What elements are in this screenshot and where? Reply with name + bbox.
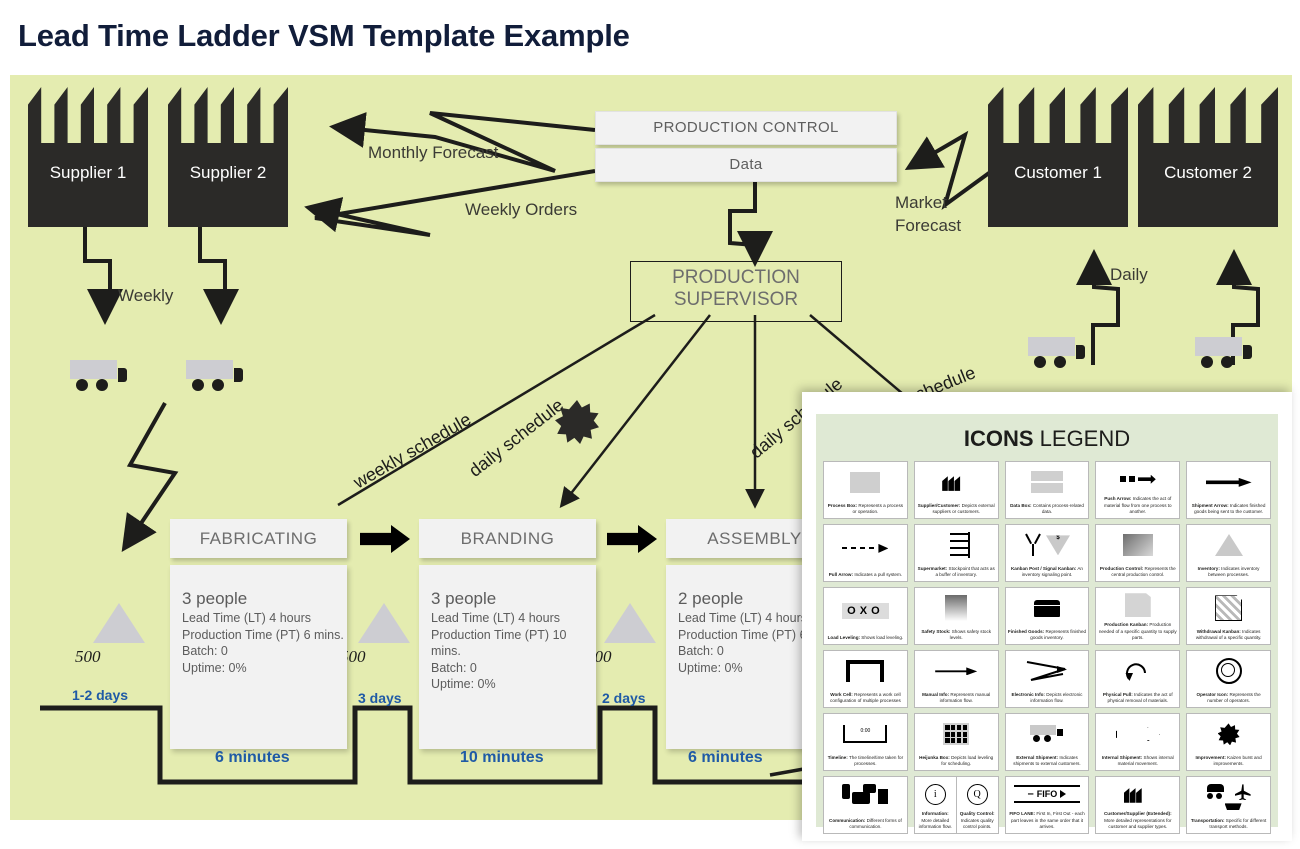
legend-item-customer-supplier-extended[interactable]: Customer/Supplier (Extended): More detai… <box>1095 776 1180 834</box>
heijunka-box-icon <box>915 714 998 755</box>
market-forecast-label-1: Market <box>895 193 947 213</box>
manual-info-icon <box>915 651 998 692</box>
legend-item-push-arrow[interactable]: Push Arrow: Indicates the act of materia… <box>1095 461 1180 519</box>
legend-item-pull-arrow[interactable]: Pull Arrow: Indicates a pull system. <box>823 524 908 582</box>
legend-item-manual-info[interactable]: Manual Info: Represents manual informati… <box>914 650 999 708</box>
transportation-icon <box>1187 777 1270 818</box>
process-name-2: BRANDING <box>461 529 555 548</box>
data-box-icon <box>1006 462 1089 503</box>
process-people-1: 3 people <box>182 589 347 609</box>
legend-name: Supermarket: <box>918 566 948 571</box>
finished-goods-icon <box>1006 588 1089 629</box>
process-time-label-1: 6 minutes <box>215 749 290 767</box>
process-lead-time-2: Lead Time (LT) 4 hours <box>431 610 596 627</box>
legend-item-finished-goods[interactable]: Finished Goods: Represents finished good… <box>1005 587 1090 645</box>
delay-label-1: 1-2 days <box>72 687 128 703</box>
inventory-triangle-1 <box>93 603 145 643</box>
legend-desc: The timeline/time taken for processes. <box>848 755 903 766</box>
monthly-forecast-label: Monthly Forecast <box>368 143 498 163</box>
legend-name: Customer/Supplier (Extended): <box>1104 811 1172 816</box>
legend-item-physical-pull[interactable]: Physical Pull: Indicates the act of phys… <box>1095 650 1180 708</box>
legend-name: Heijunka Box: <box>919 755 950 760</box>
legend-item-improvement[interactable]: Improvement: Kaizen burst and improvemen… <box>1186 713 1271 771</box>
truck-icon-customer-2 <box>1195 337 1255 371</box>
legend-title-bold: ICONS <box>964 426 1034 451</box>
page-title: Lead Time Ladder VSM Template Example <box>18 18 630 54</box>
legend-name: Safety Stock: <box>921 629 950 634</box>
weekly-label: Weekly <box>118 286 173 306</box>
supplier-1-label: Supplier 1 <box>28 163 148 183</box>
legend-item-supplier-customer[interactable]: Supplier/Customer: Depicts external supp… <box>914 461 999 519</box>
factory-roof-icon <box>988 87 1128 146</box>
legend-item-timeline[interactable]: 0:00 Timeline: The timeline/time taken f… <box>823 713 908 771</box>
process-header-fabricating[interactable]: FABRICATING <box>170 519 347 558</box>
icons-legend-inner: ICONS LEGEND Process Box: Represents a p… <box>816 414 1278 827</box>
supplier-1-node[interactable]: Supplier 1 <box>28 87 148 227</box>
process-body-fabricating: 3 people Lead Time (LT) 4 hours Producti… <box>170 565 347 749</box>
process-people-2: 3 people <box>431 589 596 609</box>
customer-supplier-extended-icon <box>1096 777 1179 811</box>
process-name-1: FABRICATING <box>200 529 318 548</box>
internal-shipment-icon <box>1096 714 1179 755</box>
legend-item-production-control[interactable]: Production Control: Represents the centr… <box>1095 524 1180 582</box>
factory-body <box>1138 143 1278 227</box>
legend-name: Pull Arrow: <box>829 572 853 577</box>
factory-body <box>28 143 148 227</box>
supervisor-line-1: PRODUCTION <box>631 267 841 289</box>
factory-roof-icon <box>28 87 148 146</box>
process-name-3: ASSEMBLY <box>707 529 801 548</box>
legend-item-operator-icon[interactable]: Operator Icon: Represents the number of … <box>1186 650 1271 708</box>
electronic-info-icon <box>1006 651 1089 692</box>
legend-item-shipment-arrow[interactable]: Shipment Arrow: Indicates finished goods… <box>1186 461 1271 519</box>
legend-desc: Shows safety stock levels. <box>950 629 991 640</box>
legend-name: Work Cell: <box>830 692 853 697</box>
legend-item-information-quality[interactable]: i Information: More detailed information… <box>914 776 999 834</box>
delay-label-3: 2 days <box>602 690 646 706</box>
truck-icon-supplier-2 <box>186 360 246 394</box>
legend-name: Quality Control: <box>960 811 995 816</box>
truck-icon-supplier-1 <box>70 360 130 394</box>
legend-name: Withdrawal Kanban: <box>1197 629 1241 634</box>
customer-2-node[interactable]: Customer 2 <box>1138 87 1278 227</box>
inventory-triangle-3 <box>604 603 656 643</box>
legend-item-process-box[interactable]: Process Box: Represents a process or ope… <box>823 461 908 519</box>
legend-name: Supplier/Customer: <box>918 503 961 508</box>
legend-name: Finished Goods: <box>1008 629 1044 634</box>
legend-item-information[interactable]: i Information: More detailed information… <box>915 777 956 833</box>
legend-desc: Shows load leveling. <box>860 635 903 640</box>
production-kanban-icon <box>1096 588 1179 622</box>
external-shipment-icon <box>1006 714 1089 755</box>
customer-1-label: Customer 1 <box>988 163 1128 183</box>
legend-item-inventory[interactable]: Inventory: Indicates inventory between p… <box>1186 524 1271 582</box>
process-time-label-2: 10 minutes <box>460 749 544 767</box>
legend-row: Communication: Different forms of commun… <box>823 776 1271 834</box>
production-control-icon <box>1096 525 1179 566</box>
legend-desc: Indicates a pull system. <box>853 572 902 577</box>
legend-desc: Depicts load leveling for scheduling. <box>941 755 993 766</box>
daily-label: Daily <box>1110 265 1148 285</box>
customer-1-node[interactable]: Customer 1 <box>988 87 1128 227</box>
process-body-branding: 3 people Lead Time (LT) 4 hours Producti… <box>419 565 596 749</box>
communication-icon <box>824 777 907 818</box>
icons-legend-panel: ICONS LEGEND Process Box: Represents a p… <box>802 392 1292 841</box>
legend-item-heijunka-box[interactable]: Heijunka Box: Depicts load leveling for … <box>914 713 999 771</box>
legend-name: Improvement: <box>1196 755 1226 760</box>
production-control-label: PRODUCTION CONTROL <box>653 119 839 136</box>
push-arrow-icon <box>1096 462 1179 496</box>
process-lead-time-1: Lead Time (LT) 4 hours <box>182 610 347 627</box>
process-uptime-1: Uptime: 0% <box>182 660 347 677</box>
legend-item-quality-control[interactable]: Q Quality Control: Indicates quality con… <box>956 777 998 833</box>
legend-name: Kanban Post / Signal Kanban: <box>1011 566 1076 571</box>
legend-item-production-kanban[interactable]: Production Kanban: Production needed of … <box>1095 587 1180 645</box>
quality-control-icon: Q <box>957 777 998 811</box>
pull-arrow-icon <box>824 525 907 572</box>
legend-item-work-cell[interactable]: Work Cell: Represents a work cell config… <box>823 650 908 708</box>
legend-item-load-leveling[interactable]: OXO Load Leveling: Shows load leveling. <box>823 587 908 645</box>
information-icon: i <box>915 777 956 811</box>
legend-item-kanban-post[interactable]: $ Kanban Post / Signal Kanban: An invent… <box>1005 524 1090 582</box>
withdrawal-kanban-icon <box>1187 588 1270 629</box>
legend-name: Operator Icon: <box>1197 692 1229 697</box>
legend-item-supermarket[interactable]: Supermarket: Stockpoint that acts as a b… <box>914 524 999 582</box>
production-supervisor-box[interactable]: PRODUCTION SUPERVISOR <box>630 261 842 322</box>
legend-name: Production Kanban: <box>1104 622 1148 627</box>
legend-desc: Indicates quality control points. <box>961 818 994 829</box>
legend-item-withdrawal-kanban[interactable]: Withdrawal Kanban: Indicates withdrawal … <box>1186 587 1271 645</box>
supplier-2-node[interactable]: Supplier 2 <box>168 87 288 227</box>
inventory-triangle-2 <box>358 603 410 643</box>
legend-name: Process Box: <box>828 503 857 508</box>
legend-row: OXO Load Leveling: Shows load leveling. … <box>823 587 1271 645</box>
legend-name: Timeline: <box>828 755 848 760</box>
supplier-customer-icon <box>915 462 998 503</box>
supervisor-line-2: SUPERVISOR <box>631 289 841 311</box>
legend-row: Process Box: Represents a process or ope… <box>823 461 1271 519</box>
legend-item-fifo-lane[interactable]: –FIFO FIFO LANE: First In, First Out - e… <box>1005 776 1090 834</box>
supplier2-weekly-arrow <box>200 227 225 319</box>
shipment-arrow-icon <box>1187 462 1270 503</box>
legend-name: Manual Info: <box>922 692 949 697</box>
factory-body <box>168 143 288 227</box>
legend-desc: Represents a process or operation. <box>853 503 904 514</box>
legend-name: Information: <box>922 811 949 816</box>
legend-name: Inventory: <box>1198 566 1220 571</box>
data-box[interactable]: Data <box>595 148 897 182</box>
legend-desc: More detailed representations for custom… <box>1104 818 1171 829</box>
legend-name: Transportation: <box>1191 818 1225 823</box>
supply-to-fabricating-arrow <box>125 403 175 547</box>
process-header-branding[interactable]: BRANDING <box>419 519 596 558</box>
legend-name: External Shipment: <box>1016 755 1058 760</box>
improvement-kaizen-burst-icon <box>1187 714 1270 755</box>
fifo-lane-icon: –FIFO <box>1006 777 1089 811</box>
factory-roof-icon <box>168 87 288 146</box>
legend-item-internal-shipment[interactable]: Internal Shipment: Shows internal materi… <box>1095 713 1180 771</box>
legend-name: FIFO LANE: <box>1009 811 1035 816</box>
legend-item-electronic-info[interactable]: Electronic Info: Depicts electronic info… <box>1005 650 1090 708</box>
legend-row: Pull Arrow: Indicates a pull system. Sup… <box>823 524 1271 582</box>
delay-label-2: 3 days <box>358 690 402 706</box>
inventory-value-1: 500 <box>75 647 101 667</box>
legend-row: Work Cell: Represents a work cell config… <box>823 650 1271 708</box>
icons-legend-title: ICONS LEGEND <box>823 426 1271 452</box>
legend-item-external-shipment[interactable]: External Shipment: Indicates shipments t… <box>1005 713 1090 771</box>
process-uptime-2: Uptime: 0% <box>431 676 596 693</box>
legend-desc: More detailed information flow. <box>919 818 952 829</box>
safety-stock-icon <box>915 588 998 629</box>
legend-name: Data Box: <box>1010 503 1031 508</box>
timeline-icon: 0:00 <box>824 714 907 755</box>
process-batch-1: Batch: 0 <box>182 643 347 660</box>
operator-icon <box>1187 651 1270 692</box>
legend-name: Physical Pull: <box>1103 692 1133 697</box>
factory-body <box>988 143 1128 227</box>
kanban-post-signal-kanban-icon: $ <box>1006 525 1089 566</box>
legend-name: Electronic Info: <box>1012 692 1045 697</box>
process-production-time-1: Production Time (PT) 6 mins. <box>182 627 347 644</box>
inventory-icon <box>1187 525 1270 566</box>
legend-name: Production Control: <box>1100 566 1143 571</box>
customer-2-label: Customer 2 <box>1138 163 1278 183</box>
legend-item-transportation[interactable]: Transportation: Specific for different t… <box>1186 776 1271 834</box>
legend-name: Internal Shipment: <box>1102 755 1142 760</box>
weekly-orders-label: Weekly Orders <box>465 200 577 220</box>
supplier1-weekly-arrow <box>85 227 110 319</box>
process-batch-2: Batch: 0 <box>431 660 596 677</box>
legend-name: Load Leveling: <box>828 635 860 640</box>
legend-item-safety-stock[interactable]: Safety Stock: Shows safety stock levels. <box>914 587 999 645</box>
factory-roof-icon <box>1138 87 1278 146</box>
data-to-supervisor-arrow <box>730 180 755 261</box>
production-control-box[interactable]: PRODUCTION CONTROL <box>595 111 897 145</box>
market-forecast-label-2: Forecast <box>895 216 961 236</box>
supermarket-icon <box>915 525 998 566</box>
legend-name: Communication: <box>829 818 865 823</box>
supplier-2-label: Supplier 2 <box>168 163 288 183</box>
legend-name: Shipment Arrow: <box>1192 503 1229 508</box>
legend-row: 0:00 Timeline: The timeline/time taken f… <box>823 713 1271 771</box>
load-leveling-icon: OXO <box>824 588 907 635</box>
process-time-label-3: 6 minutes <box>688 749 763 767</box>
legend-item-communication[interactable]: Communication: Different forms of commun… <box>823 776 908 834</box>
process-box-icon <box>824 462 907 503</box>
data-box-label: Data <box>729 156 762 173</box>
legend-item-data-box[interactable]: Data Box: Contains process-related data. <box>1005 461 1090 519</box>
legend-desc: Contains process-related data. <box>1032 503 1084 514</box>
truck-icon-customer-1 <box>1028 337 1088 371</box>
physical-pull-icon <box>1096 651 1179 692</box>
work-cell-icon <box>824 651 907 692</box>
legend-title-rest: LEGEND <box>1034 426 1131 451</box>
process-production-time-2: Production Time (PT) 10 mins. <box>431 627 596 660</box>
legend-name: Push Arrow: <box>1104 496 1131 501</box>
